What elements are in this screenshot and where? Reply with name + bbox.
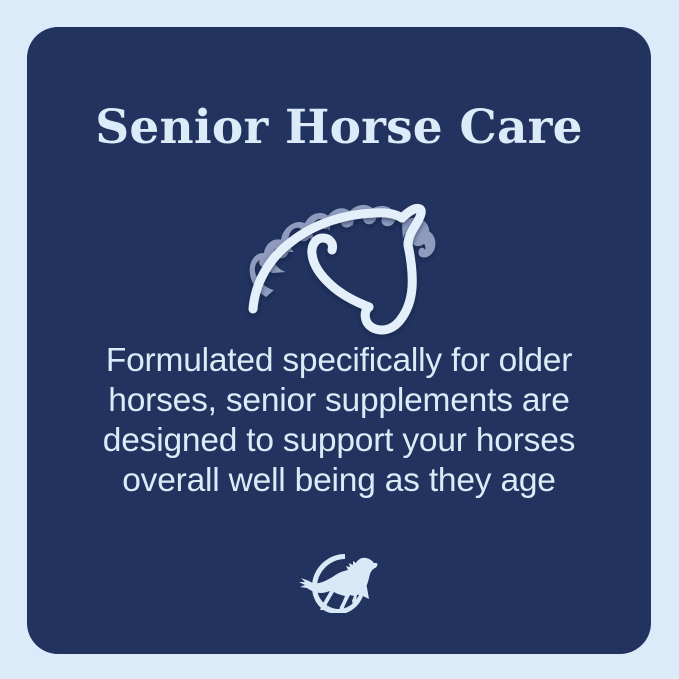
body-line: Formulated specifically for older [49, 341, 629, 381]
promo-card: Senior Horse Care [27, 27, 651, 654]
body-copy: Formulated specifically for older horses… [49, 341, 629, 501]
horse-head-icon [206, 166, 476, 351]
body-line: horses, senior supplements are [49, 381, 629, 421]
logo-horse-shape [299, 558, 377, 611]
horse-head-illustration [206, 166, 476, 351]
body-line: overall well being as they age [49, 461, 629, 501]
page-title: Senior Horse Care [27, 103, 651, 152]
galloping-horse-icon [291, 549, 387, 613]
promo-image-canvas: Senior Horse Care [0, 0, 679, 679]
brand-logo [291, 549, 387, 613]
body-line: designed to support your horses [49, 421, 629, 461]
